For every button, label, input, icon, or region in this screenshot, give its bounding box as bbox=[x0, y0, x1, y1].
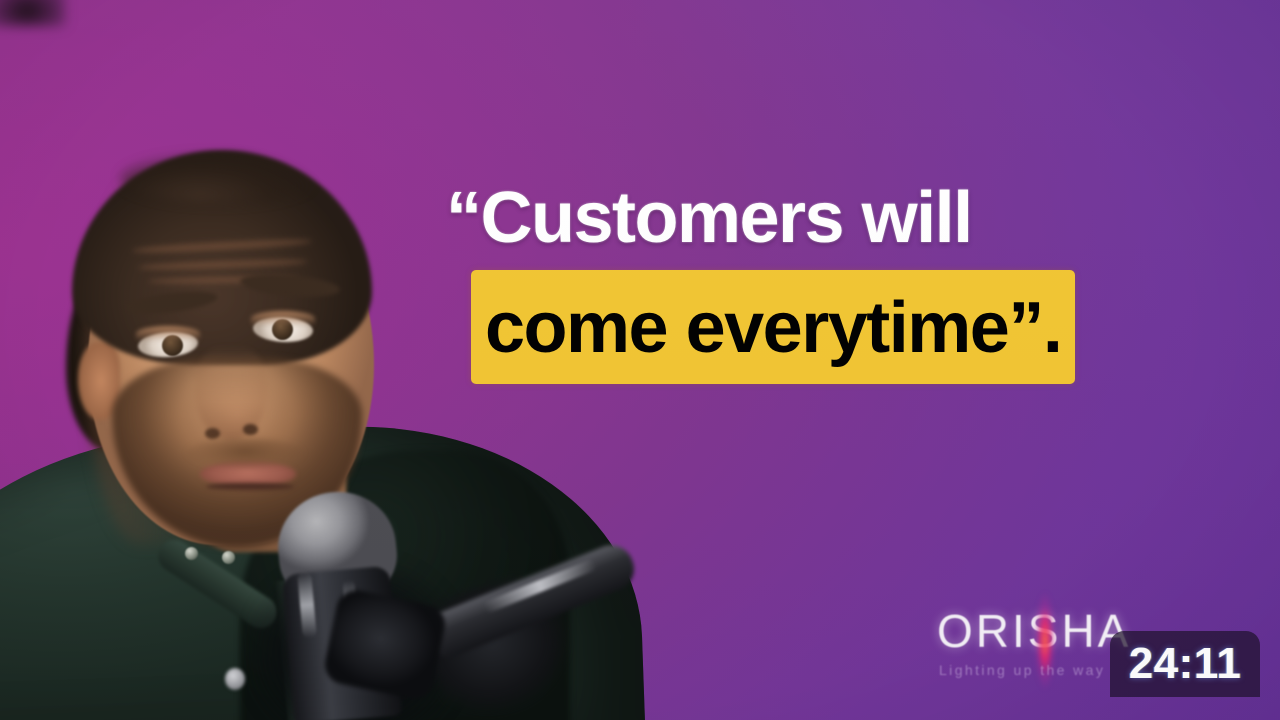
eyelid-right bbox=[251, 311, 315, 326]
video-frame: “Customers will come everytime”. ORISHA … bbox=[0, 0, 1280, 720]
caption-overlay: “Customers will come everytime”. bbox=[446, 176, 1280, 260]
timestamp-badge: 24:11 bbox=[1110, 631, 1260, 697]
logo-tagline: Lighting up the way bbox=[939, 662, 1105, 678]
moustache bbox=[186, 438, 304, 468]
hair-wisp bbox=[120, 152, 320, 204]
caption-line-1: “Customers will bbox=[446, 176, 1280, 260]
caption-highlight-wrapper: come everytime”. bbox=[471, 270, 1280, 384]
timestamp-value: 24:11 bbox=[1129, 639, 1242, 689]
caption-line-2-highlighted: come everytime”. bbox=[471, 270, 1075, 384]
mouth-line bbox=[206, 483, 294, 490]
corner-artifact bbox=[0, 0, 65, 26]
eyelid-left bbox=[136, 326, 200, 341]
flame-icon bbox=[1032, 588, 1058, 698]
shirt-button bbox=[222, 551, 235, 564]
microphone-knob bbox=[225, 668, 245, 690]
shirt-button bbox=[185, 547, 198, 560]
